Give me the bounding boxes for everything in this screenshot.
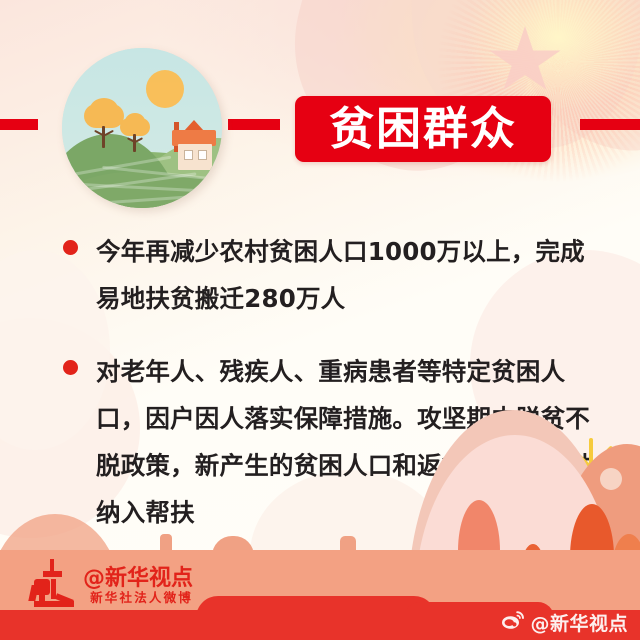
weibo-icon: [501, 610, 525, 635]
list-item: 今年再减少农村贫困人口1000万以上，完成易地扶贫搬迁280万人: [0, 228, 640, 322]
page-title: 贫困群众: [329, 106, 517, 151]
watermark-handle: @新华视点: [530, 609, 628, 636]
brand-subtitle: 新华社法人微博: [83, 590, 193, 606]
cloud-dot: [600, 468, 622, 490]
title-plate: 贫困群众: [295, 96, 551, 162]
weibo-watermark: @新华视点: [501, 609, 628, 636]
bullet-text: 今年再减少农村贫困人口1000万以上，完成易地扶贫搬迁280万人: [96, 228, 600, 322]
bullet-dot-icon: [63, 240, 78, 255]
divider-dash-left: [228, 119, 280, 130]
brand-logo-text: @新华视点 新华社法人微博: [83, 568, 193, 607]
house-icon: [168, 120, 220, 170]
xinhua-mark-icon: [30, 559, 76, 607]
rural-village-illustration: [62, 48, 222, 208]
bullet-dot-icon: [63, 360, 78, 375]
tree-icon: [120, 118, 150, 156]
brand-logo[interactable]: @新华视点 新华社法人微博: [30, 559, 193, 607]
tree-icon: [84, 104, 124, 150]
divider-dash-left-edge: [0, 119, 38, 130]
divider-dash-right: [580, 119, 640, 130]
sun-icon: [146, 70, 184, 108]
poster-canvas: 贫困群众 今年再减少农村贫困人口1000万以上，完成易地扶贫搬迁280万人 对老…: [0, 0, 640, 640]
brand-handle: @新华视点: [83, 568, 193, 590]
